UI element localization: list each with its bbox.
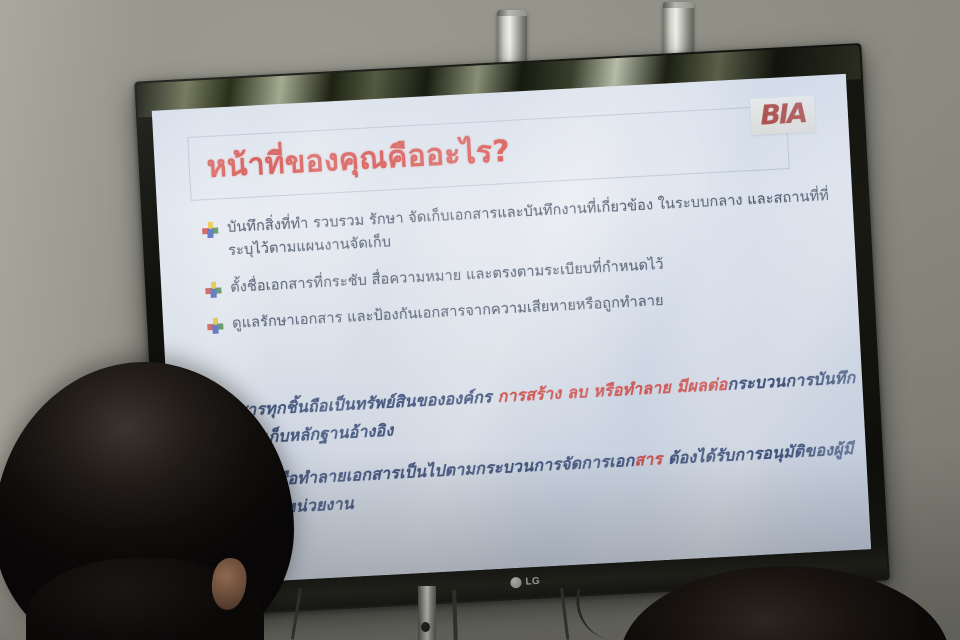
colored-diamond-bullet-icon	[207, 318, 224, 335]
bia-logo: BIA	[750, 96, 815, 135]
colored-diamond-bullet-icon	[205, 281, 222, 298]
pole-cap	[497, 10, 527, 16]
paragraph-segment-highlight: การสร้าง ลบ หรือทำลาย มีผลต่อ	[497, 375, 728, 406]
bullet-text: ดูแลรักษาเอกสาร และป้องกันเอกสารจากความเ…	[232, 290, 665, 336]
bia-logo-text: BIA	[760, 100, 807, 129]
meeting-room-scene: หน้าที่ของคุณคืออะไร? BIA บันทึกสิ่งที่ท…	[0, 0, 960, 640]
bullet-list: บันทึกสิ่งที่ทำ รวบรวม รักษา จัดเก็บเอกส…	[202, 184, 848, 351]
pole-cap	[663, 2, 694, 8]
colored-diamond-bullet-icon	[202, 222, 219, 239]
